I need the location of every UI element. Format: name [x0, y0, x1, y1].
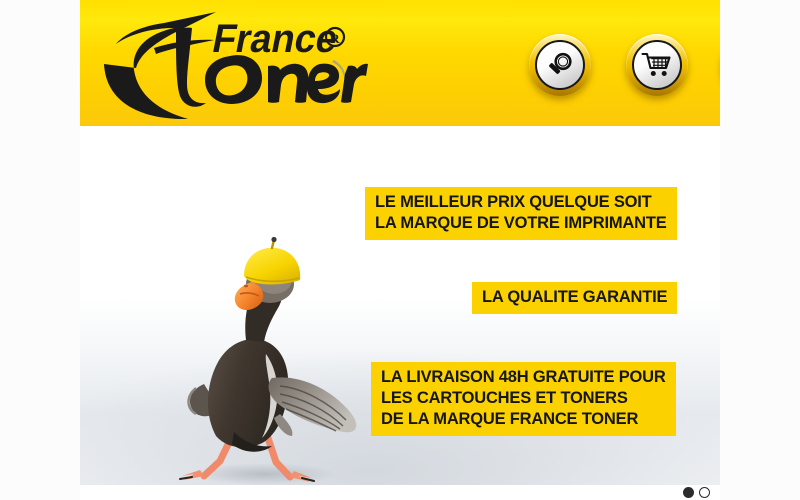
site-header: France R — [80, 0, 720, 126]
carousel-dot-2[interactable] — [699, 487, 710, 498]
carousel-dot-1[interactable] — [683, 487, 694, 498]
search-button-face — [535, 40, 585, 90]
carousel-pagination — [683, 485, 710, 500]
hero-banner-price[interactable]: LE MEILLEUR PRIX QUELQUE SOIT LA MARQUE … — [365, 187, 677, 240]
registered-trademark-mark: R — [330, 31, 340, 46]
page-root: France R — [0, 0, 800, 500]
brand-logo[interactable]: France R — [98, 4, 368, 122]
hero-carousel-slide: LE MEILLEUR PRIX QUELQUE SOIT LA MARQUE … — [80, 126, 720, 485]
site-content-column: France R — [80, 0, 720, 500]
hero-banner-shipping[interactable]: LA LIVRAISON 48H GRATUITE POUR LES CARTO… — [371, 362, 676, 436]
hero-banner-quality[interactable]: LA QUALITE GARANTIE — [472, 282, 677, 314]
search-button[interactable] — [529, 34, 591, 96]
cart-button-face — [632, 40, 682, 90]
cart-button[interactable] — [626, 34, 688, 96]
hero-banner-quality-line-1: LA QUALITE GARANTIE — [482, 287, 667, 308]
hero-banner-price-line-1: LE MEILLEUR PRIX QUELQUE SOIT — [375, 192, 667, 213]
mascot-goose-image — [160, 236, 380, 485]
brand-name-top: France — [209, 15, 342, 61]
hero-banner-shipping-line-1: LA LIVRAISON 48H GRATUITE POUR — [381, 367, 666, 388]
magnifier-icon — [545, 50, 575, 80]
hero-banner-price-line-2: LA MARQUE DE VOTRE IMPRIMANTE — [375, 213, 667, 234]
shopping-cart-icon — [641, 51, 673, 79]
hero-banner-shipping-line-2: LES CARTOUCHES ET TONERS — [381, 388, 666, 409]
hero-banner-shipping-line-3: DE LA MARQUE FRANCE TONER — [381, 409, 666, 430]
